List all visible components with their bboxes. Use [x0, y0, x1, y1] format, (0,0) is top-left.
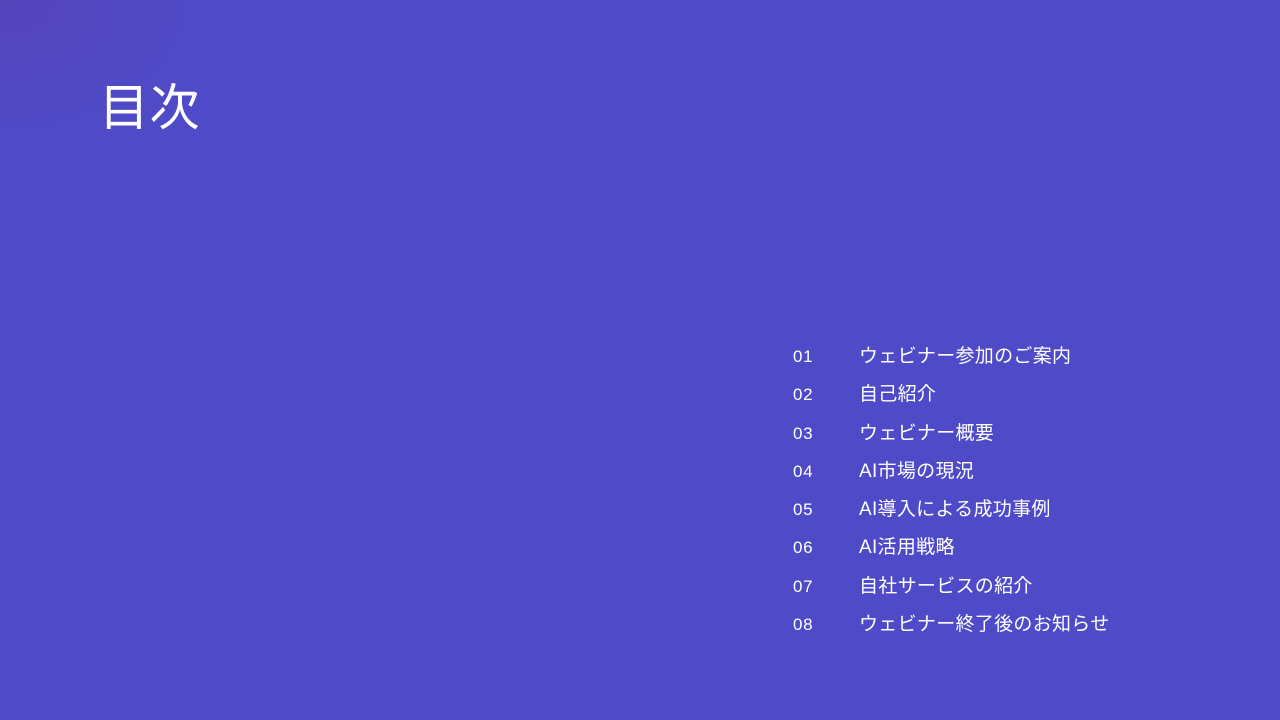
agenda-item-number: 01 [793, 347, 859, 367]
agenda-item[interactable]: 05AI導入による成功事例 [793, 494, 1193, 532]
agenda-item-label: 自己紹介 [859, 379, 1193, 406]
agenda-item-number: 05 [793, 500, 859, 520]
agenda-item-label: AI導入による成功事例 [859, 494, 1193, 521]
agenda-item-label: AI市場の現況 [859, 456, 1193, 483]
agenda-item[interactable]: 04AI市場の現況 [793, 456, 1193, 494]
agenda-item[interactable]: 08ウェビナー終了後のお知らせ [793, 609, 1193, 647]
agenda-item-number: 08 [793, 615, 859, 635]
agenda-item[interactable]: 06AI活用戦略 [793, 532, 1193, 570]
agenda-item[interactable]: 03ウェビナー概要 [793, 418, 1193, 456]
agenda-item-label: AI活用戦略 [859, 532, 1193, 559]
agenda-item-label: ウェビナー概要 [859, 418, 1193, 445]
agenda-item-label: ウェビナー終了後のお知らせ [859, 609, 1193, 636]
presentation-slide: 目次 01ウェビナー参加のご案内02自己紹介03ウェビナー概要04AI市場の現況… [0, 0, 1280, 720]
page-title: 目次 [99, 82, 200, 135]
agenda-item-number: 03 [793, 424, 859, 444]
agenda-item-label: 自社サービスの紹介 [859, 571, 1193, 598]
agenda-item-label: ウェビナー参加のご案内 [859, 341, 1193, 368]
agenda-item-number: 04 [793, 462, 859, 482]
agenda-item-number: 02 [793, 385, 859, 405]
agenda-item-number: 06 [793, 538, 859, 558]
agenda-item[interactable]: 02自己紹介 [793, 379, 1193, 417]
agenda-list: 01ウェビナー参加のご案内02自己紹介03ウェビナー概要04AI市場の現況05A… [793, 341, 1193, 647]
agenda-item-number: 07 [793, 577, 859, 597]
agenda-item[interactable]: 07自社サービスの紹介 [793, 571, 1193, 609]
agenda-item[interactable]: 01ウェビナー参加のご案内 [793, 341, 1193, 379]
